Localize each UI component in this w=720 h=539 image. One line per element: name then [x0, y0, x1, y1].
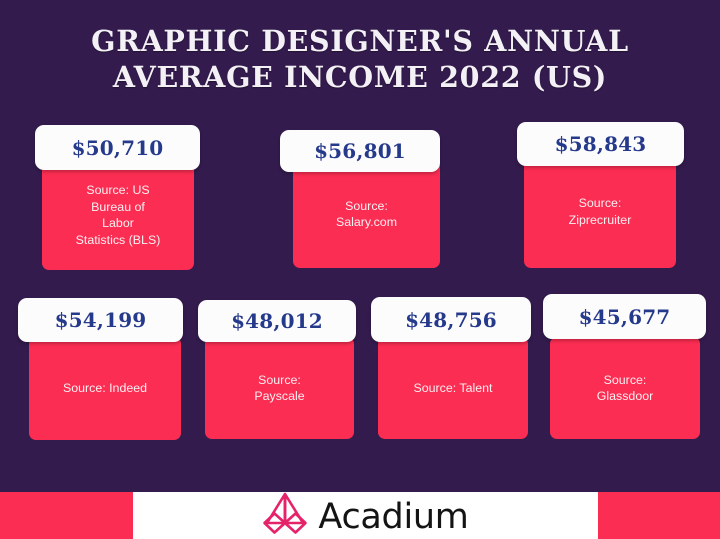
card-source-label: Source: Talent	[414, 380, 493, 397]
footer-bar: Acadium	[0, 492, 720, 539]
card-source-label: Source: Salary.com	[336, 198, 397, 231]
card-source-label: Source: Indeed	[63, 380, 147, 397]
card-body: Source: Ziprecruiter	[524, 155, 676, 268]
card-source-label: Source: Glassdoor	[597, 372, 653, 405]
card-amount-value: $56,801	[314, 139, 406, 163]
card-amount-value: $48,756	[405, 308, 497, 332]
card-amount-value: $45,677	[579, 305, 671, 329]
title-line-2: AVERAGE INCOME 2022 (US)	[0, 60, 720, 96]
brand-lockup: Acadium	[133, 492, 598, 539]
card-source-label: Source: Payscale	[254, 372, 304, 405]
card-amount-value: $48,012	[231, 309, 323, 333]
card-body: Source: US Bureau of Labor Statistics (B…	[42, 160, 194, 270]
card-source-label: Source: Ziprecruiter	[569, 195, 632, 228]
infographic-poster: GRAPHIC DESIGNER'S ANNUAL AVERAGE INCOME…	[0, 0, 720, 539]
card-amount-panel: $45,677	[543, 294, 706, 339]
acadium-diamond-icon	[262, 492, 308, 539]
brand-name: Acadium	[318, 500, 468, 535]
card-source-label: Source: US Bureau of Labor Statistics (B…	[76, 182, 161, 248]
card-amount-panel: $50,710	[35, 125, 200, 170]
card-amount-panel: $48,012	[198, 300, 356, 342]
page-title: GRAPHIC DESIGNER'S ANNUAL AVERAGE INCOME…	[0, 24, 720, 96]
card-body: Source: Indeed	[29, 337, 181, 440]
card-amount-value: $54,199	[55, 308, 147, 332]
card-amount-panel: $48,756	[371, 297, 531, 342]
card-amount-value: $58,843	[555, 132, 647, 156]
card-body: Source: Payscale	[205, 337, 354, 439]
card-amount-panel: $56,801	[280, 130, 440, 172]
title-line-1: GRAPHIC DESIGNER'S ANNUAL	[0, 24, 720, 60]
card-amount-panel: $58,843	[517, 122, 684, 166]
card-body: Source: Talent	[378, 337, 528, 439]
card-amount-value: $50,710	[72, 136, 164, 160]
card-amount-panel: $54,199	[18, 298, 183, 342]
card-body: Source: Glassdoor	[550, 337, 700, 439]
card-body: Source: Salary.com	[293, 160, 440, 268]
